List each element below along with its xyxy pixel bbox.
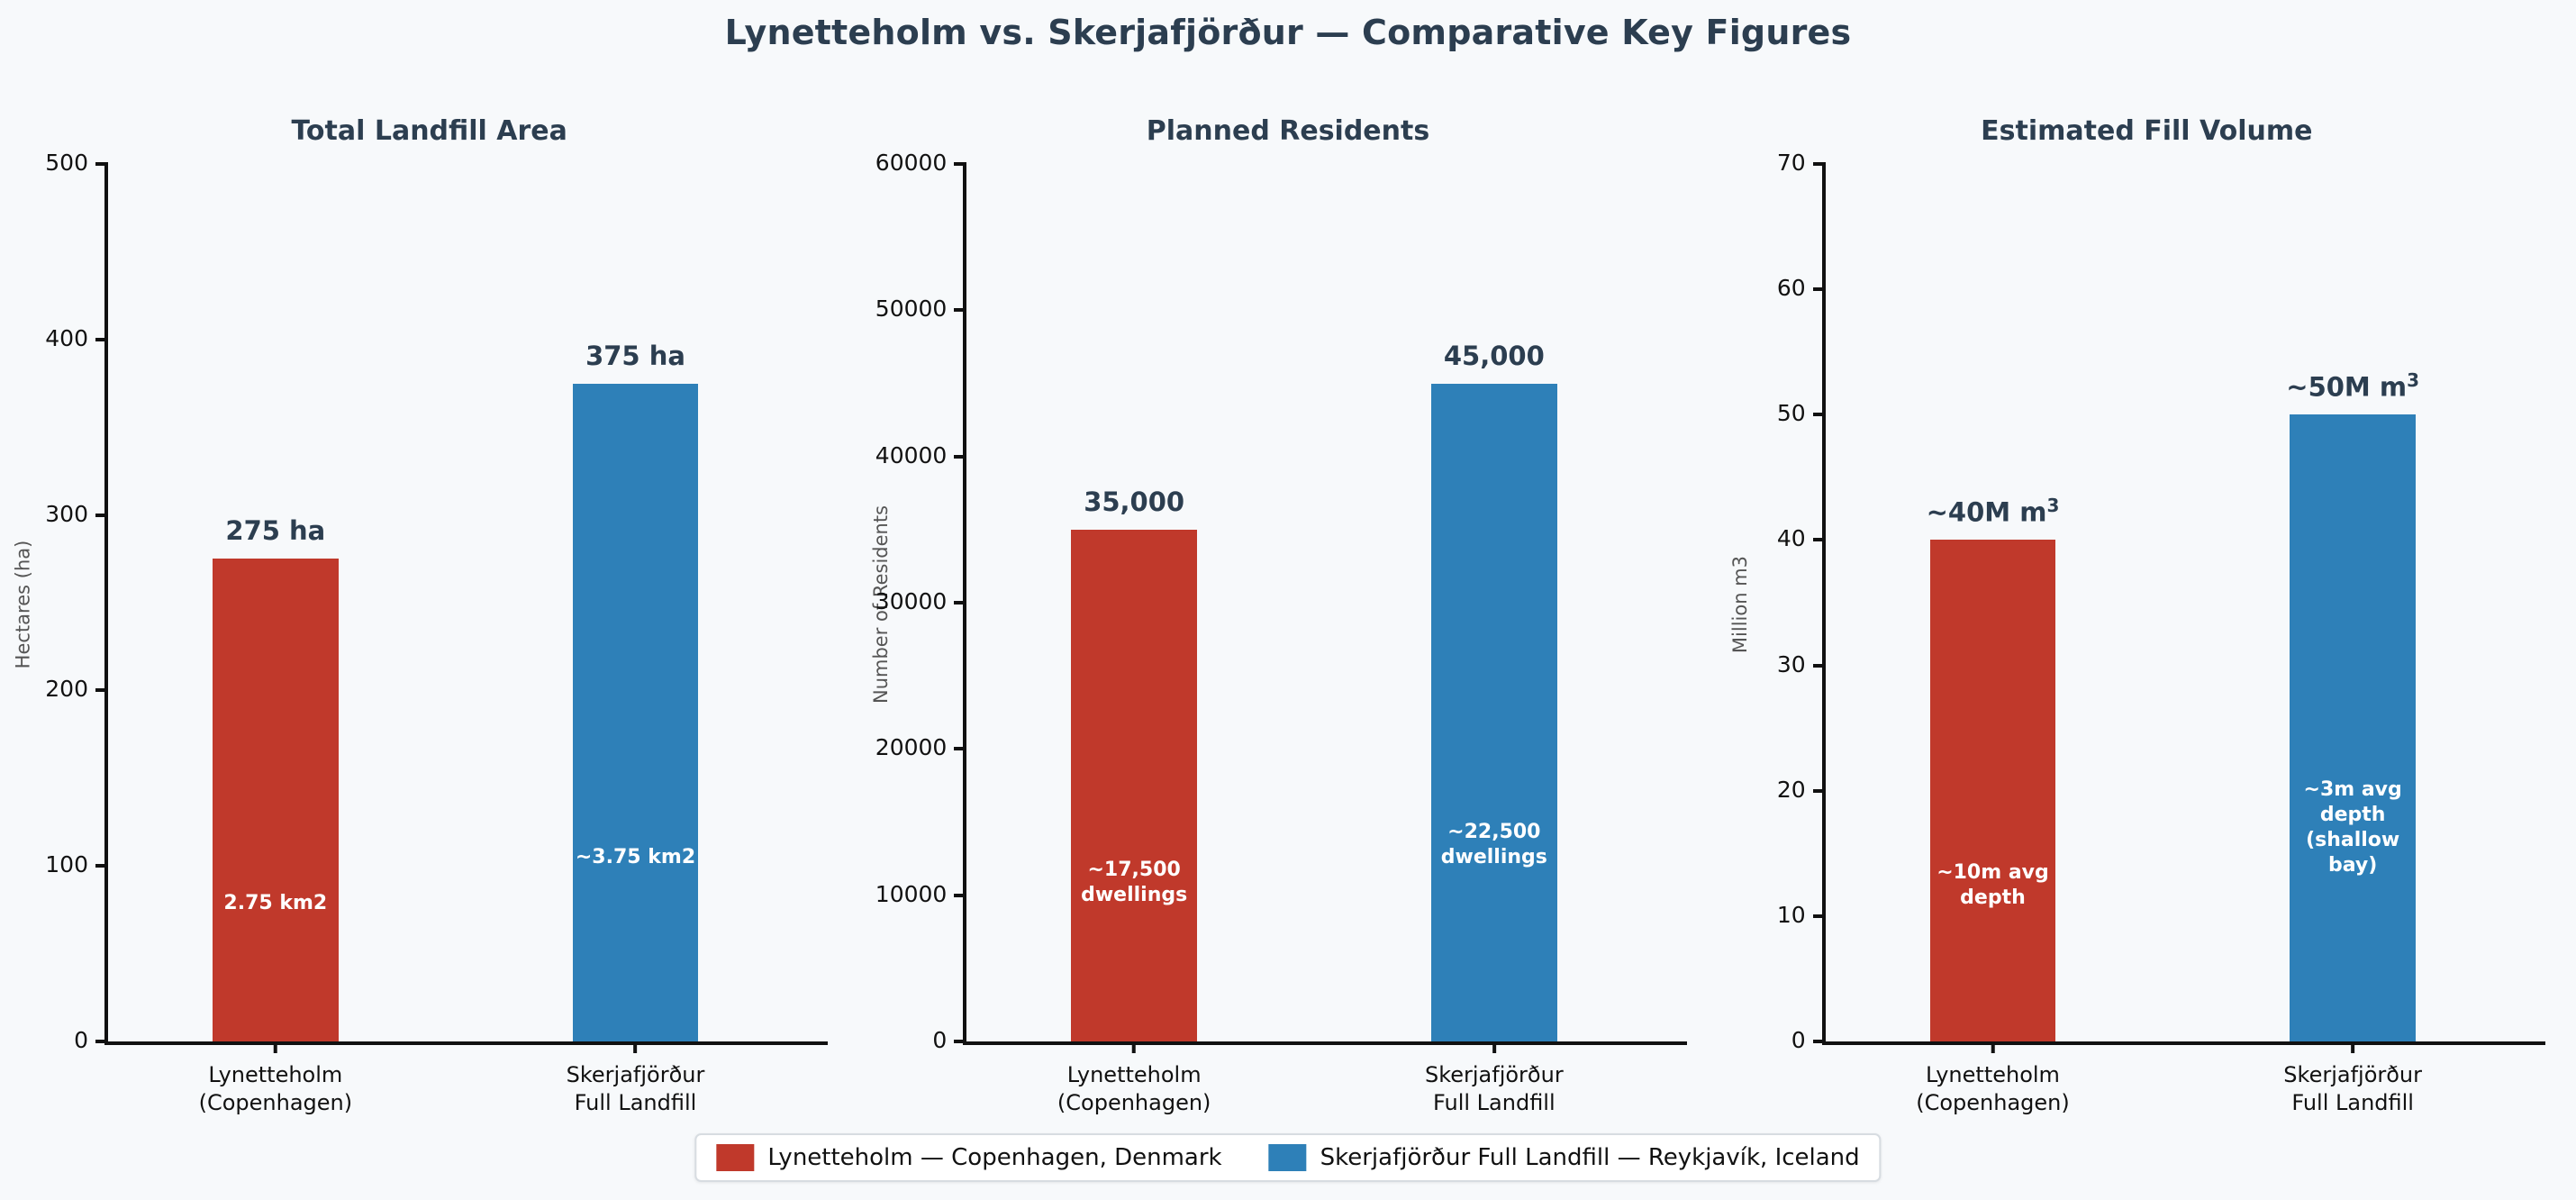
panels-row: Total Landfill AreaHectares (ha)01002003… [0, 99, 2576, 1144]
y-tick-label: 10 [1777, 902, 1806, 928]
y-tick-mark [1813, 1040, 1826, 1043]
panel-title: Planned Residents [858, 115, 1717, 147]
x-tick-label: SkerjafjörðurFull Landfill [2283, 1061, 2422, 1117]
y-tick-mark [95, 864, 108, 868]
legend-item[interactable]: Skerjafjörður Full Landfill — Reykjavík,… [1269, 1144, 1860, 1171]
y-tick-mark [1813, 914, 1826, 918]
plot-area: 0100200300400500275 ha2.75 km2375 ha~3.7… [104, 164, 828, 1045]
y-tick-mark [954, 894, 966, 897]
bar-annotation-label: ~17,500dwellings [1071, 858, 1197, 908]
x-tick-label: SkerjafjörðurFull Landfill [1425, 1061, 1564, 1117]
bar-value-label: 45,000 [1343, 341, 1646, 384]
bar-skerjafjordur[interactable]: 375 ha~3.75 km2 [573, 384, 699, 1042]
panel-title: Estimated Fill Volume [1718, 115, 2576, 147]
x-axis-tick: SkerjafjörðurFull Landfill [567, 1041, 705, 1097]
y-tick-mark [954, 455, 966, 459]
y-tick-mark [1813, 664, 1826, 668]
bar-lynetteholm[interactable]: ~40M m3~10m avgdepth [1930, 540, 2056, 1041]
y-tick-mark [1813, 538, 1826, 541]
y-tick-label: 0 [932, 1027, 947, 1053]
bar-fill [1431, 384, 1557, 1042]
y-tick-label: 20 [1777, 777, 1806, 803]
bar-skerjafjordur[interactable]: ~50M m3~3m avgdepth(shallow bay) [2290, 414, 2416, 1041]
bar-fill [213, 559, 339, 1041]
bar-annotation-label: 2.75 km2 [213, 891, 339, 916]
x-tick-mark [1132, 1041, 1136, 1053]
bar-value-label: ~50M m3 [2201, 369, 2504, 415]
y-tick-label: 30 [1777, 651, 1806, 677]
x-tick-mark [274, 1041, 277, 1053]
y-tick-mark [954, 308, 966, 312]
y-tick-mark [1813, 789, 1826, 793]
y-tick-label: 20000 [875, 734, 948, 760]
y-tick-mark [954, 1040, 966, 1043]
y-axis-label-text: Hectares (ha) [12, 541, 33, 669]
y-tick-mark [95, 688, 108, 692]
y-tick-label: 60000 [875, 150, 948, 176]
y-axis-label: Hectares (ha) [7, 164, 38, 1045]
y-tick-label: 70 [1777, 150, 1806, 176]
x-tick-label: Lynetteholm(Copenhagen) [1057, 1061, 1211, 1117]
bar-annotation-label: ~10m avgdepth [1930, 860, 2056, 911]
y-tick-label: 40000 [875, 442, 948, 468]
x-axis-tick: Lynetteholm(Copenhagen) [1057, 1041, 1211, 1097]
panel-title: Total Landfill Area [0, 115, 858, 147]
x-tick-label: SkerjafjörðurFull Landfill [567, 1061, 705, 1117]
bar-value-label: 275 ha [124, 515, 427, 559]
plot-area: 010000200003000040000500006000035,000~17… [963, 164, 1686, 1045]
x-tick-label: Lynetteholm(Copenhagen) [199, 1061, 353, 1117]
y-tick-mark [95, 338, 108, 341]
bar-fill [2290, 414, 2416, 1041]
bar-annotation-label: ~3m avgdepth(shallow bay) [2290, 777, 2416, 879]
bar-skerjafjordur[interactable]: 45,000~22,500dwellings [1431, 384, 1557, 1042]
legend-item[interactable]: Lynetteholm — Copenhagen, Denmark [716, 1144, 1221, 1171]
legend-label: Lynetteholm — Copenhagen, Denmark [767, 1144, 1221, 1171]
bar-lynetteholm[interactable]: 35,000~17,500dwellings [1071, 530, 1197, 1041]
figure-title: Lynetteholm vs. Skerjafjörður — Comparat… [0, 0, 2576, 65]
y-tick-label: 60 [1777, 275, 1806, 301]
y-tick-mark [1813, 162, 1826, 166]
x-axis-tick: SkerjafjörðurFull Landfill [1425, 1041, 1564, 1097]
y-axis-label-text: Million m3 [1729, 556, 1751, 653]
subplot-panel-3: Estimated Fill VolumeMillion m3010203040… [1718, 99, 2576, 1144]
y-tick-label: 300 [45, 501, 88, 527]
y-tick-label: 500 [45, 150, 88, 176]
y-tick-mark [954, 162, 966, 166]
bar-annotation-label: ~22,500dwellings [1431, 820, 1557, 870]
bar-fill [1071, 530, 1197, 1041]
y-tick-label: 30000 [875, 588, 948, 614]
y-tick-mark [1813, 287, 1826, 291]
y-tick-mark [95, 514, 108, 517]
y-tick-mark [95, 162, 108, 166]
bar-value-label: 375 ha [485, 341, 787, 384]
subplot-panel-2: Planned ResidentsNumber of Residents0100… [858, 99, 1717, 1144]
y-tick-label: 0 [1791, 1027, 1806, 1053]
bar-lynetteholm[interactable]: 275 ha2.75 km2 [213, 559, 339, 1041]
x-axis-tick: Lynetteholm(Copenhagen) [1916, 1041, 2070, 1097]
y-tick-label: 40 [1777, 525, 1806, 551]
y-tick-label: 200 [45, 676, 88, 702]
y-tick-label: 100 [45, 851, 88, 877]
y-tick-mark [954, 747, 966, 750]
bar-fill [573, 384, 699, 1042]
y-tick-label: 0 [74, 1027, 88, 1053]
x-axis-tick: SkerjafjörðurFull Landfill [2283, 1041, 2422, 1097]
bar-value-label: ~40M m3 [1842, 495, 2145, 541]
plot-area: 010203040506070~40M m3~10m avgdepth~50M … [1822, 164, 2545, 1045]
x-tick-label: Lynetteholm(Copenhagen) [1916, 1061, 2070, 1117]
legend: Lynetteholm — Copenhagen, DenmarkSkerjaf… [694, 1133, 1881, 1182]
x-tick-mark [634, 1041, 638, 1053]
y-tick-mark [1813, 413, 1826, 416]
y-axis-label: Million m3 [1725, 164, 1755, 1045]
y-tick-mark [954, 601, 966, 605]
y-tick-label: 400 [45, 325, 88, 351]
subplot-panel-1: Total Landfill AreaHectares (ha)01002003… [0, 99, 858, 1144]
y-tick-mark [95, 1040, 108, 1043]
x-tick-mark [2351, 1041, 2354, 1053]
y-tick-label: 50000 [875, 295, 948, 322]
bar-fill [1930, 540, 2056, 1041]
bar-annotation-label: ~3.75 km2 [573, 845, 699, 870]
legend-label: Skerjafjörður Full Landfill — Reykjavík,… [1320, 1144, 1860, 1171]
y-tick-label: 10000 [875, 881, 948, 907]
bar-value-label: 35,000 [983, 486, 1285, 530]
x-tick-mark [1492, 1041, 1496, 1053]
legend-color-swatch [1269, 1144, 1307, 1171]
x-tick-mark [1991, 1041, 1994, 1053]
y-tick-label: 50 [1777, 400, 1806, 426]
legend-color-swatch [716, 1144, 754, 1171]
x-axis-tick: Lynetteholm(Copenhagen) [199, 1041, 353, 1097]
